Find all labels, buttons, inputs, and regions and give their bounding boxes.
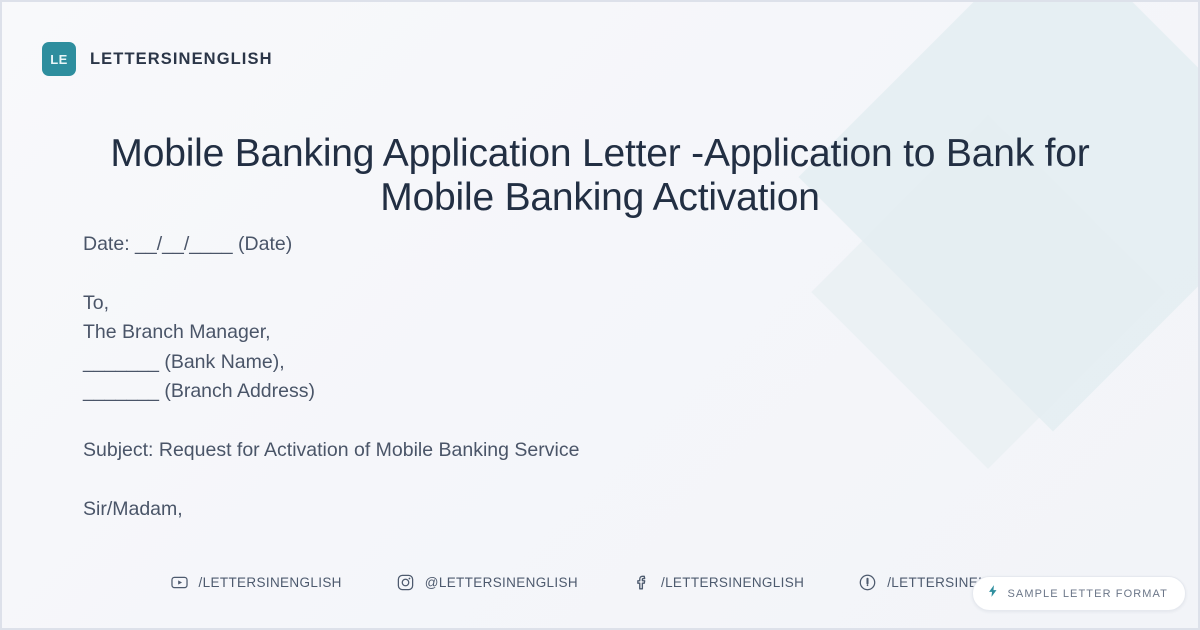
- page-title: Mobile Banking Application Letter -Appli…: [72, 132, 1128, 220]
- social-link-youtube[interactable]: /LETTERSINENGLISH: [170, 573, 342, 592]
- social-link-instagram[interactable]: @LETTERSINENGLISH: [396, 573, 578, 592]
- brand-logo-mark: LE: [42, 42, 76, 76]
- social-handle: @LETTERSINENGLISH: [425, 575, 578, 590]
- letter-date-line: Date: __/__/____ (Date): [83, 230, 1078, 260]
- letter-subject-line: Subject: Request for Activation of Mobil…: [83, 436, 1078, 466]
- page-title-line-1: Mobile Banking Application Letter -Appli…: [110, 132, 1089, 175]
- letter-recipient-line: The Branch Manager,: [83, 318, 1078, 348]
- badge-label: SAMPLE LETTER FORMAT: [1007, 588, 1168, 600]
- lightning-bolt-icon: [986, 584, 1000, 603]
- spacer: [83, 407, 1078, 436]
- page-title-line-2: Mobile Banking Activation: [380, 176, 819, 219]
- social-link-facebook[interactable]: /LETTERSINENGLISH: [632, 573, 804, 592]
- letter-card: LE LETTERSINENGLISH Mobile Banking Appli…: [0, 0, 1200, 630]
- letter-salutation: Sir/Madam,: [83, 495, 1078, 525]
- letter-body: Date: __/__/____ (Date) To, The Branch M…: [83, 230, 1078, 524]
- brand-name: LETTERSINENGLISH: [90, 50, 273, 69]
- social-handle: /LETTERSINENGLISH: [199, 575, 342, 590]
- facebook-icon: [632, 573, 651, 592]
- social-handle: /LETTERSINENGLISH: [661, 575, 804, 590]
- instagram-icon: [396, 573, 415, 592]
- letter-to-line: To,: [83, 289, 1078, 319]
- brand-header[interactable]: LE LETTERSINENGLISH: [42, 42, 273, 76]
- letter-bank-name-line: _______ (Bank Name),: [83, 348, 1078, 378]
- youtube-icon: [170, 573, 189, 592]
- letter-branch-address-line: _______ (Branch Address): [83, 377, 1078, 407]
- sample-letter-format-badge[interactable]: SAMPLE LETTER FORMAT: [972, 576, 1186, 611]
- pinterest-icon: [858, 573, 877, 592]
- spacer: [83, 260, 1078, 289]
- spacer: [83, 466, 1078, 495]
